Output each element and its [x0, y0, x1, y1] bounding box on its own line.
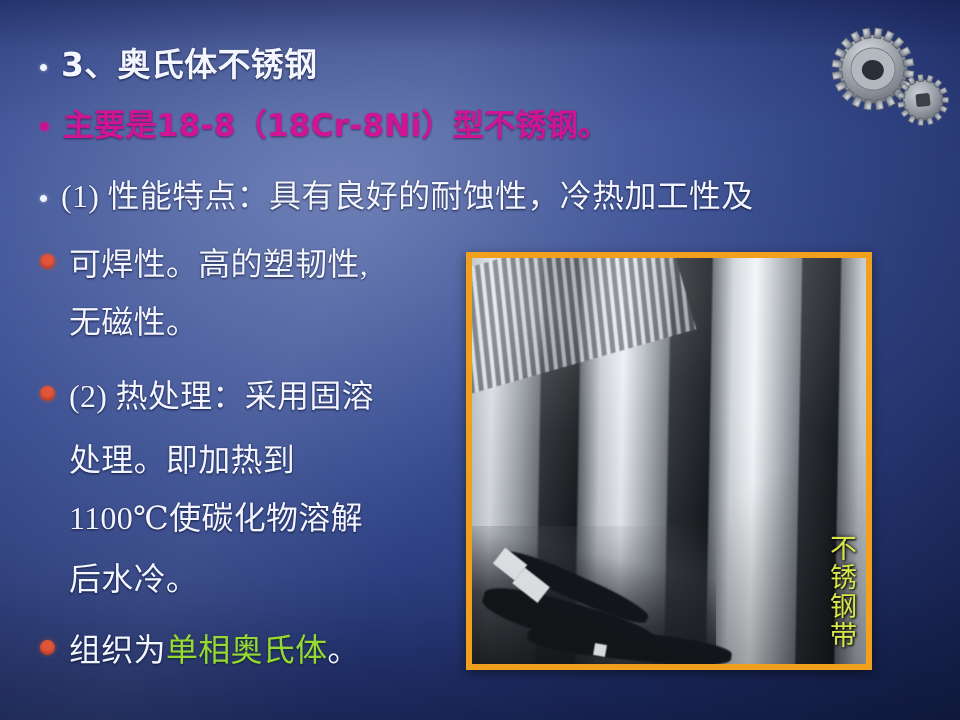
bullet-text: 1100℃使碳化物溶解	[69, 493, 363, 539]
bullet-text: 3、奥氏体不锈钢	[61, 38, 317, 86]
bullet-text: 处理。即加热到	[69, 435, 295, 481]
bullet-line-10: 组织为 单相奥氏体 。	[40, 625, 360, 671]
bullet-text: 主要是18-8（18Cr-8Ni）型不锈钢。	[63, 100, 609, 145]
bullet-marker-orange	[40, 640, 55, 655]
bullet-text-highlight: 单相奥氏体	[166, 625, 328, 671]
bullet-line-3: (1) 性能特点：具有良好的耐蚀性，冷热加工性及	[40, 171, 754, 217]
bullet-text: 可焊性。高的塑韧性,	[69, 239, 368, 285]
slide-text-content: 3、奥氏体不锈钢 主要是18-8（18Cr-8Ni）型不锈钢。 (1) 性能特点…	[0, 0, 960, 720]
bullet-text-suffix: 。	[327, 625, 359, 671]
bullet-line-9: 后水冷。	[69, 554, 198, 600]
bullet-line-4: 可焊性。高的塑韧性,	[40, 239, 368, 285]
bullet-line-6: (2) 热处理：采用固溶	[40, 371, 374, 417]
bullet-marker-magenta	[40, 122, 49, 131]
bullet-marker-white	[40, 64, 47, 71]
bullet-text-prefix: 组织为	[69, 625, 166, 671]
bullet-text: (1) 性能特点：具有良好的耐蚀性，冷热加工性及	[61, 171, 754, 217]
bullet-marker-orange	[40, 254, 55, 269]
bullet-marker-orange	[40, 386, 55, 401]
bullet-line-5: 无磁性。	[69, 297, 198, 343]
presentation-slide: 不锈钢带 3、奥氏体不锈钢 主要是18-8（18Cr-8Ni）型不锈钢。 (1)…	[0, 0, 960, 720]
bullet-line-7: 处理。即加热到	[69, 435, 295, 481]
bullet-text: (2) 热处理：采用固溶	[69, 371, 374, 417]
bullet-text: 后水冷。	[69, 554, 198, 600]
bullet-marker-white	[40, 195, 47, 202]
bullet-line-8: 1100℃使碳化物溶解	[69, 493, 363, 539]
bullet-text: 无磁性。	[69, 297, 198, 343]
bullet-line-2: 主要是18-8（18Cr-8Ni）型不锈钢。	[40, 100, 609, 145]
bullet-line-1: 3、奥氏体不锈钢	[40, 38, 317, 86]
